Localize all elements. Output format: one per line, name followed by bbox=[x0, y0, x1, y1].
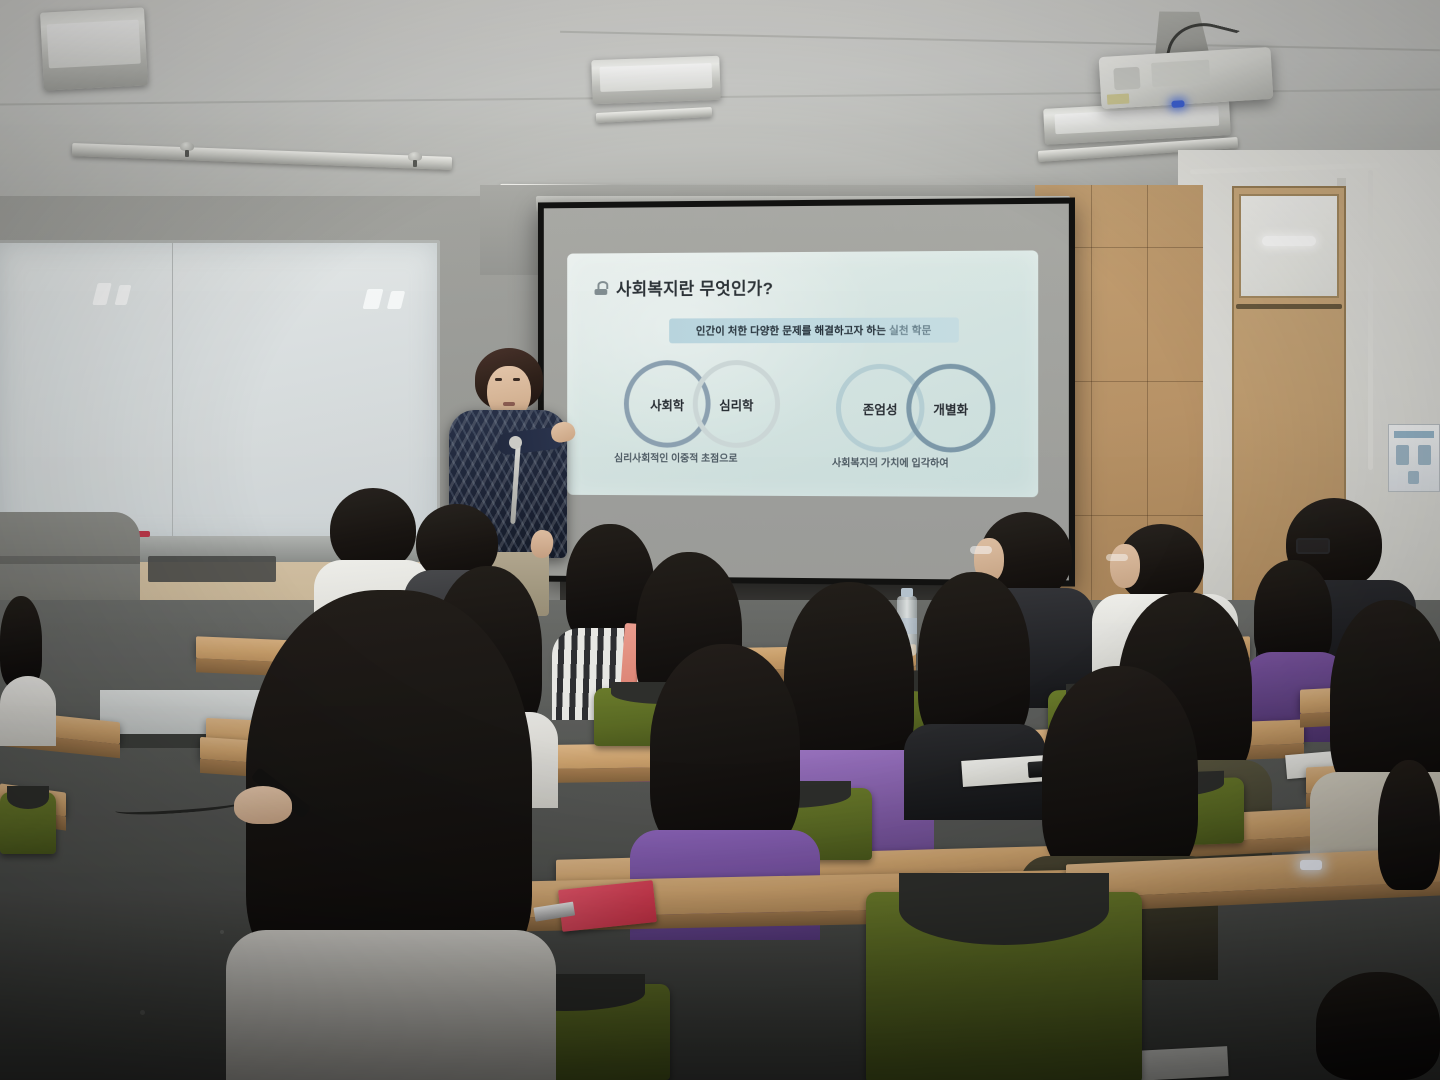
student-torso bbox=[226, 930, 556, 1080]
projector-vent bbox=[1151, 60, 1210, 87]
whiteboard-seam bbox=[172, 243, 173, 543]
wall-safety-notice bbox=[1388, 424, 1440, 492]
venn-right-label-b: 개별화 bbox=[933, 399, 968, 418]
venn-left-circle-b: 심리학 bbox=[693, 360, 780, 448]
student-head bbox=[784, 582, 914, 778]
presenter-eye bbox=[495, 378, 502, 381]
venn-right: 존엄성 개별화 bbox=[836, 364, 995, 453]
student-head bbox=[0, 596, 42, 688]
presenter-mouth bbox=[503, 402, 515, 406]
student-head bbox=[650, 644, 800, 856]
door-transom-window bbox=[1239, 194, 1339, 298]
venn-left-label-a: 사회학 bbox=[650, 394, 684, 413]
sprinkler-head bbox=[180, 142, 194, 151]
slide-title: 사회복지란 무엇인가? bbox=[616, 274, 773, 300]
corridor-lamp-reflection bbox=[1262, 236, 1316, 246]
student-face bbox=[1110, 544, 1140, 588]
door-rail bbox=[1236, 304, 1342, 309]
slide-banner: 인간이 처한 다양한 문제를 해결하고자 하는 실천 학문 bbox=[669, 317, 959, 343]
classroom-chair bbox=[866, 892, 1142, 1080]
classroom-chair bbox=[0, 792, 56, 854]
whiteboard-glare bbox=[387, 291, 405, 309]
student-head bbox=[246, 590, 532, 982]
student-head bbox=[1316, 972, 1440, 1080]
student-torso bbox=[0, 676, 56, 746]
projector-label-tag bbox=[1107, 93, 1130, 104]
venn-right-circle-b: 개별화 bbox=[906, 364, 995, 453]
presenter-eye bbox=[513, 378, 520, 381]
projector-lens bbox=[1113, 67, 1140, 91]
wall-vent bbox=[148, 556, 276, 582]
wall-conduit bbox=[1368, 170, 1373, 470]
student-head bbox=[1042, 666, 1198, 884]
whiteboard-glare bbox=[92, 283, 111, 305]
venn-left-caption: 심리사회적인 이중적 초점으로 bbox=[614, 449, 737, 464]
phone-screen-glow bbox=[1300, 860, 1322, 870]
microphone-head bbox=[509, 436, 522, 449]
classroom-photo: 사회복지란 무엇인가? 인간이 처한 다양한 문제를 해결하고자 하는 실천 학… bbox=[0, 0, 1440, 1080]
person-bust-icon bbox=[595, 281, 608, 295]
slide-title-row: 사회복지란 무엇인가? bbox=[595, 274, 774, 300]
student-head bbox=[918, 572, 1030, 748]
eyeglasses-icon bbox=[1296, 538, 1330, 554]
slide-banner-main: 인간이 처한 다양한 문제를 해결하고자 하는 bbox=[696, 325, 889, 338]
venn-left-label-b: 심리학 bbox=[719, 394, 753, 413]
whiteboard-glare bbox=[363, 289, 384, 309]
eyeglasses-icon bbox=[1106, 554, 1128, 561]
eyeglasses-icon bbox=[970, 546, 992, 554]
ceiling-projector bbox=[1099, 47, 1274, 109]
student-hand bbox=[234, 786, 292, 824]
presentation-slide: 사회복지란 무엇인가? 인간이 처한 다양한 문제를 해결하고자 하는 실천 학… bbox=[567, 250, 1038, 497]
venn-right-label-a: 존엄성 bbox=[863, 399, 898, 418]
ceiling-light-fixture bbox=[40, 7, 148, 90]
projector-power-led bbox=[1171, 100, 1184, 108]
ceiling-light-fixture bbox=[591, 56, 720, 104]
venn-left: 사회학 심리학 bbox=[624, 360, 780, 448]
sprinkler-head bbox=[408, 152, 422, 161]
student-head bbox=[1378, 760, 1440, 890]
slide-banner-faded: 실천 학문 bbox=[889, 325, 931, 337]
venn-right-caption: 사회복지의 가치에 입각하여 bbox=[832, 454, 949, 469]
whiteboard-glare bbox=[115, 285, 132, 305]
